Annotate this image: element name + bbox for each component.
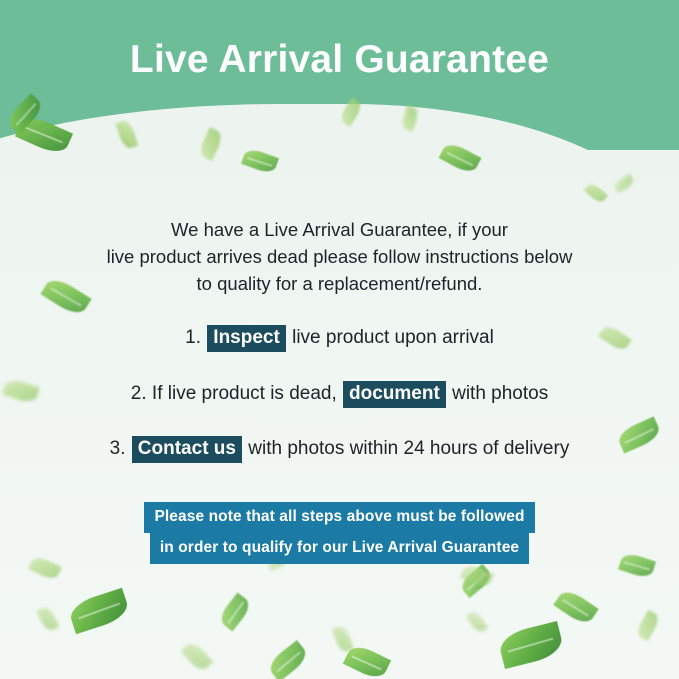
step-highlight-inspect[interactable]: Inspect (207, 325, 286, 352)
step-highlight-contact-us[interactable]: Contact us (132, 436, 242, 463)
note-line-2: in order to qualify for our Live Arrival… (150, 533, 529, 564)
step-highlight-document[interactable]: document (343, 381, 446, 408)
step-text-3: with photos within 24 hours of delivery (248, 438, 569, 459)
note-line-1: Please note that all steps above must be… (144, 502, 534, 533)
intro-paragraph: We have a Live Arrival Guarantee, if you… (0, 216, 679, 297)
step-number-1: 1. (185, 327, 201, 348)
step-text-2-after: with photos (452, 383, 548, 404)
live-arrival-guarantee-graphic: Live Arrival Guarantee We have a Live Ar… (0, 0, 679, 679)
step-text-2-before: If live product is dead, (152, 383, 337, 404)
intro-line-2: live product arrives dead please follow … (0, 243, 679, 270)
step-number-3: 3. (110, 438, 126, 459)
step-item-2: 2. If live product is dead, document wit… (0, 381, 679, 408)
intro-line-1: We have a Live Arrival Guarantee, if you… (0, 216, 679, 243)
intro-line-3: to quality for a replacement/refund. (0, 270, 679, 297)
step-number-2: 2. (131, 383, 147, 404)
step-item-3: 3. Contact us with photos within 24 hour… (0, 436, 679, 463)
note-banner: Please note that all steps above must be… (0, 502, 679, 564)
page-title: Live Arrival Guarantee (0, 36, 679, 84)
step-item-1: 1. Inspect live product upon arrival (0, 325, 679, 352)
step-text-1: live product upon arrival (292, 327, 494, 348)
